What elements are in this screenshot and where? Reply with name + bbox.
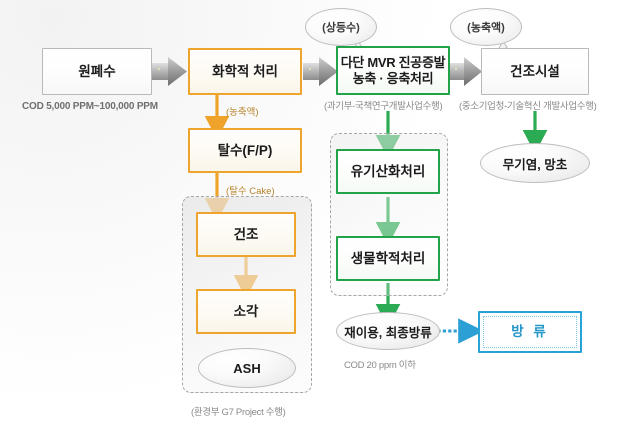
arrow-mvr-to-drying-facility (450, 57, 482, 86)
node-mvr-label-line2: 농축 · 응축처리 (353, 71, 434, 86)
caption-cod-influent: COD 5,000 PPM~100,000 PPM (22, 101, 158, 112)
node-mvr-evaporation[interactable]: 다단 MVR 진공증발 농축 · 응축처리 (336, 46, 450, 95)
callout-supernatant: (상등수) (305, 8, 377, 46)
arrow-chemical-to-mvr (303, 57, 338, 86)
node-organic-oxidation-label: 유기산화처리 (351, 164, 426, 180)
node-drying-facility-label: 건조시설 (510, 64, 560, 80)
node-mvr-label-line1: 다단 MVR 진공증발 (341, 55, 446, 70)
arrow-raw-to-chemical (152, 57, 187, 86)
caption-mvr-project: (과기부-국책연구개발사업수행) (324, 98, 442, 112)
node-incineration-label: 소각 (234, 304, 259, 320)
node-drying-facility[interactable]: 건조시설 (481, 48, 589, 95)
node-dewatering-label: 탈수(F/P) (218, 143, 273, 159)
caption-cod-effluent: COD 20 ppm 이하 (344, 357, 416, 371)
callout-concentrate-label: (농축액) (467, 19, 505, 35)
node-biological-treatment[interactable]: 생물학적처리 (336, 236, 440, 281)
node-dewatering[interactable]: 탈수(F/P) (188, 128, 302, 173)
edge-label-dewatered-cake: (탈수 Cake) (226, 183, 275, 197)
node-inorganic-salt[interactable]: 무기염, 망초 (480, 143, 590, 183)
callout-supernatant-label: (상등수) (322, 19, 360, 35)
node-drying[interactable]: 건조 (196, 212, 296, 257)
node-discharge-label: 방 류 (511, 324, 549, 340)
node-reuse-discharge[interactable]: 재이용, 최종방류 (336, 312, 440, 350)
node-ash[interactable]: ASH (198, 348, 296, 388)
node-reuse-discharge-label: 재이용, 최종방류 (344, 322, 431, 341)
node-inorganic-salt-label: 무기염, 망초 (503, 154, 567, 173)
edge-label-concentrate: (농축액) (226, 104, 259, 118)
node-drying-label: 건조 (234, 227, 259, 243)
caption-drying-project: (중소기업청-기술혁신 개발사업수행) (459, 98, 597, 112)
node-biological-treatment-label: 생물학적처리 (351, 251, 426, 267)
node-ash-label: ASH (233, 361, 260, 376)
node-raw-wastewater-label: 원폐수 (78, 64, 115, 80)
node-incineration[interactable]: 소각 (196, 289, 296, 334)
node-discharge[interactable]: 방 류 (478, 311, 582, 353)
callout-concentrate: (농축액) (450, 8, 522, 46)
caption-g7-project: (환경부 G7 Project 수행) (191, 404, 286, 418)
node-raw-wastewater[interactable]: 원폐수 (42, 48, 152, 95)
node-chemical-treatment-label: 화학적 처리 (212, 64, 278, 80)
node-chemical-treatment[interactable]: 화학적 처리 (188, 48, 302, 95)
node-organic-oxidation[interactable]: 유기산화처리 (336, 149, 440, 194)
process-flow-diagram: 원폐수 화학적 처리 다단 MVR 진공증발 농축 · 응축처리 건조시설 (상… (0, 0, 628, 428)
